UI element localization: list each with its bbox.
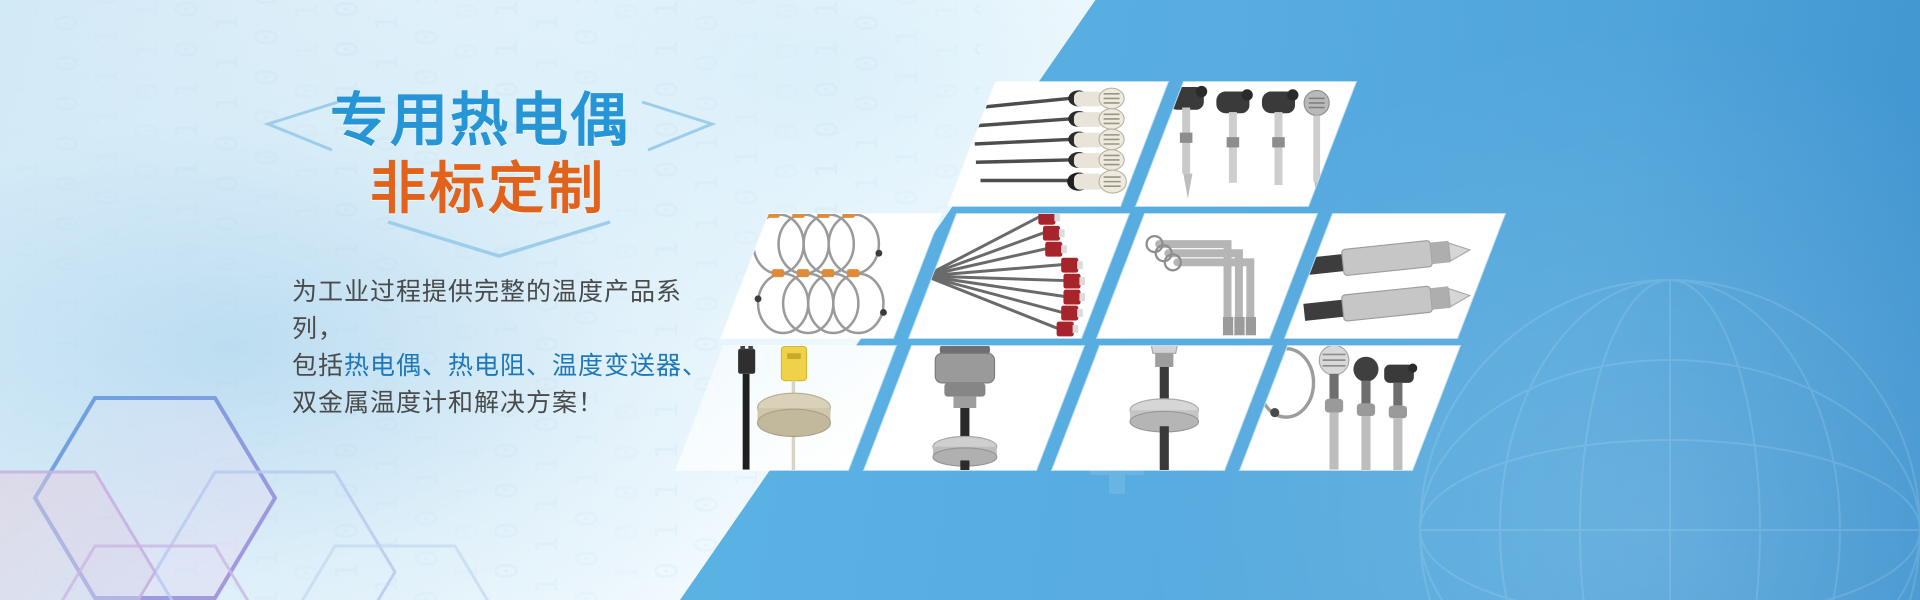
texture-column: 0 0 1 1 1 1 0 0 0 0 1 1 1 1 0 1 1 1 0 0 …: [10, 0, 46, 600]
promo-banner: 0 0 1 1 1 1 0 0 0 0 1 1 1 1 0 1 1 1 0 0 …: [0, 0, 1920, 600]
description-paragraph: 为工业过程提供完整的温度产品系列， 包括热电偶、热电阻、温度变送器、 双金属温度…: [262, 274, 732, 422]
texture-column: 1 1 0 0 0 0 0 0 0 0 1 1 1 1 0 0 0 0 1 1 …: [170, 0, 206, 600]
headline-copy-block: 专用热电偶 非标定制 为工业过程提供完整的温度产品系列， 包括热电偶、热电阻、温…: [262, 88, 732, 422]
page-subtitle: 非标定制: [262, 154, 732, 224]
description-line-3: 双金属温度计和解决方案！: [292, 385, 732, 422]
description-line-2-highlight: 热电偶、热电阻、温度变送器、: [344, 352, 708, 380]
page-title: 专用热电偶: [262, 88, 732, 154]
chevron-down-divider: [262, 220, 732, 260]
blue-diagonal-field: [680, 0, 1920, 600]
title-row: 专用热电偶: [262, 88, 732, 154]
texture-column: 0 0 0 1 1 1 1 0 1 1 1 0 0 0 0 1 1 1 1 0 …: [130, 0, 166, 600]
description-line-1: 为工业过程提供完整的温度产品系列，: [292, 274, 732, 348]
description-line-2-prefix: 包括: [292, 352, 344, 380]
texture-column: 1 1 1 1 0 0 0 0 1 1 0 0 1 1 1 1 0 0 0 0 …: [90, 0, 126, 600]
texture-column: 1 0 0 0 0 1 1 1 1 0 0 0 0 0 0 0 0 1 1 1 …: [50, 0, 86, 600]
description-line-2: 包括热电偶、热电阻、温度变送器、: [292, 348, 732, 385]
texture-column: 0 1 1 0 0 1 1 1 1 0 0 0 0 1 1 1 1 0 1 1 …: [210, 0, 246, 600]
